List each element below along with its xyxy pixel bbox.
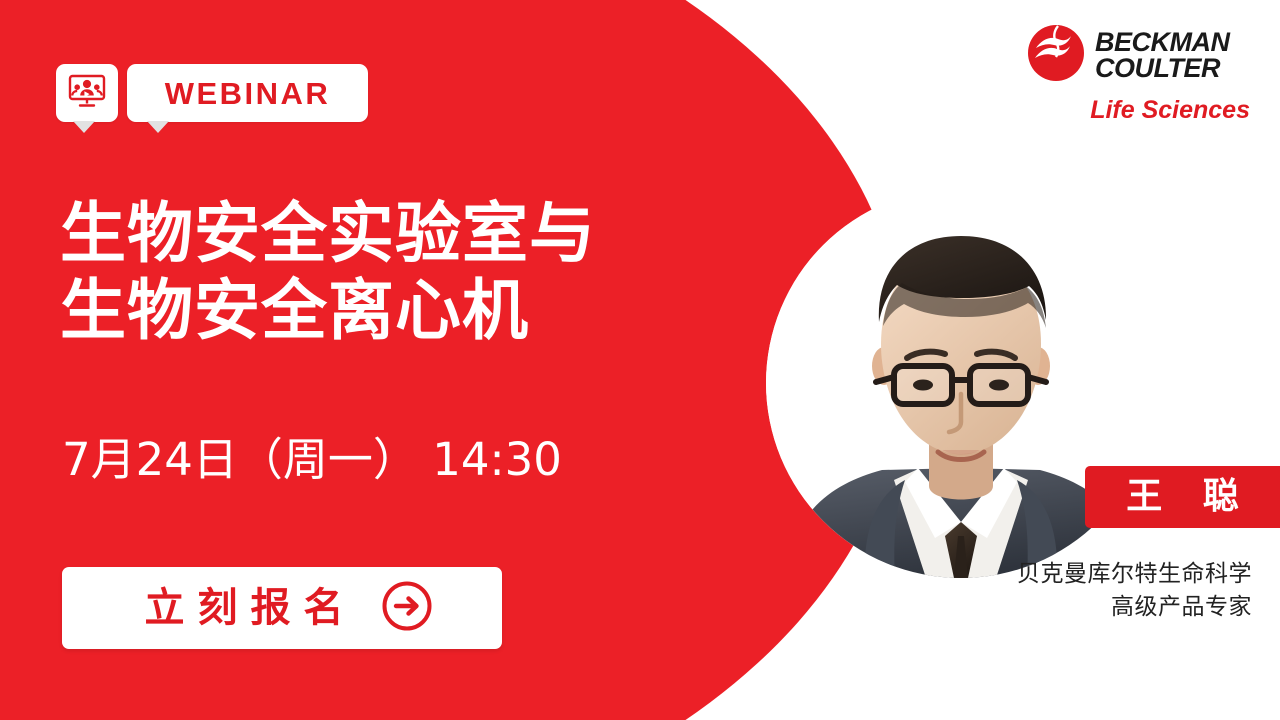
brand-tagline: Life Sciences — [1025, 96, 1250, 125]
beckman-coulter-sphere-icon — [1025, 22, 1087, 89]
webinar-badge: WEBINAR — [56, 64, 368, 122]
speaker-role: 贝克曼库尔特生命科学 高级产品专家 — [1017, 558, 1252, 623]
brand-line-1: BECKMAN — [1095, 30, 1230, 55]
register-button-label: 立刻报名 — [132, 588, 357, 628]
brand-wordmark: BECKMAN COULTER — [1095, 30, 1230, 80]
speaker-name: 王 聪 — [1112, 479, 1253, 515]
arrow-right-circle-icon — [381, 580, 433, 637]
webinar-label-bubble: WEBINAR — [127, 64, 368, 122]
brand-logo: BECKMAN COULTER Life Sciences — [1025, 22, 1250, 125]
webinar-icon-bubble — [56, 64, 118, 122]
brand-logo-top: BECKMAN COULTER — [1025, 22, 1250, 89]
webinar-poster: WEBINAR 生物安全实验室与 生物安全离心机 7月24日（周一） 14:30… — [0, 0, 1280, 720]
page-title: 生物安全实验室与 生物安全离心机 — [60, 196, 596, 349]
webinar-label: WEBINAR — [165, 78, 331, 109]
webinar-screen-people-play-icon — [68, 74, 106, 113]
speaker-name-banner: 王 聪 — [1085, 466, 1280, 528]
schedule-text: 7月24日（周一） 14:30 — [62, 437, 562, 482]
register-button[interactable]: 立刻报名 — [62, 567, 502, 649]
brand-line-2: COULTER — [1095, 56, 1230, 81]
